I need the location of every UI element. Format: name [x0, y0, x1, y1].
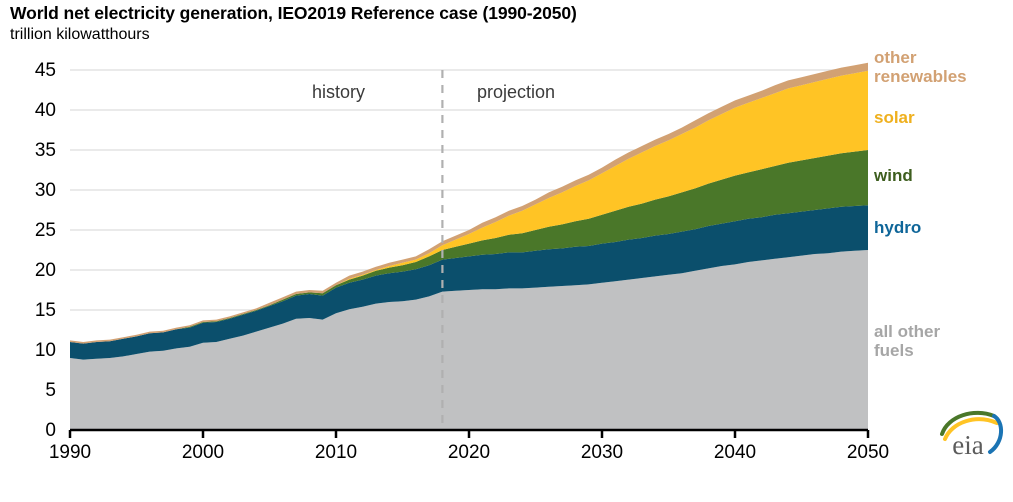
y-axis-tick-label: 20 — [8, 261, 56, 280]
series-label-line: hydro — [874, 218, 921, 237]
eia-logo: eia — [938, 408, 1004, 458]
series-label-hydro: hydro — [874, 218, 921, 237]
y-axis-tick-label: 15 — [8, 301, 56, 320]
x-axis-tick-label: 2020 — [424, 443, 514, 462]
eia-logo-text: eia — [952, 430, 983, 458]
y-axis-tick-label: 5 — [8, 381, 56, 400]
chart-plot-area — [0, 0, 1013, 502]
series-label-line: wind — [874, 166, 913, 185]
series-label-line: renewables — [874, 67, 967, 86]
series-label-all-other-fuels: all otherfuels — [874, 322, 940, 360]
series-label-other-renewables: otherrenewables — [874, 48, 967, 86]
x-axis-tick-label: 2050 — [823, 443, 913, 462]
chart-root: World net electricity generation, IEO201… — [0, 0, 1013, 502]
y-axis-tick-label: 10 — [8, 341, 56, 360]
y-axis-tick-label: 45 — [8, 61, 56, 80]
x-axis-tick-label: 2030 — [557, 443, 647, 462]
series-label-line: fuels — [874, 341, 940, 360]
y-axis-tick-label: 30 — [8, 181, 56, 200]
annotation-history: history — [312, 82, 365, 103]
x-axis-tick-label: 1990 — [25, 443, 115, 462]
series-label-solar: solar — [874, 108, 915, 127]
y-axis-tick-label: 35 — [8, 141, 56, 160]
series-label-line: solar — [874, 108, 915, 127]
y-axis-tick-label: 40 — [8, 101, 56, 120]
y-axis-tick-label: 0 — [8, 421, 56, 440]
annotation-projection: projection — [477, 82, 555, 103]
x-axis-tick-label: 2000 — [158, 443, 248, 462]
series-label-line: all other — [874, 322, 940, 341]
stacked-areas — [70, 63, 868, 430]
x-axis-tick-label: 2010 — [291, 443, 381, 462]
series-label-line: other — [874, 48, 967, 67]
x-axis-tick-label: 2040 — [690, 443, 780, 462]
series-label-wind: wind — [874, 166, 913, 185]
y-axis-tick-label: 25 — [8, 221, 56, 240]
